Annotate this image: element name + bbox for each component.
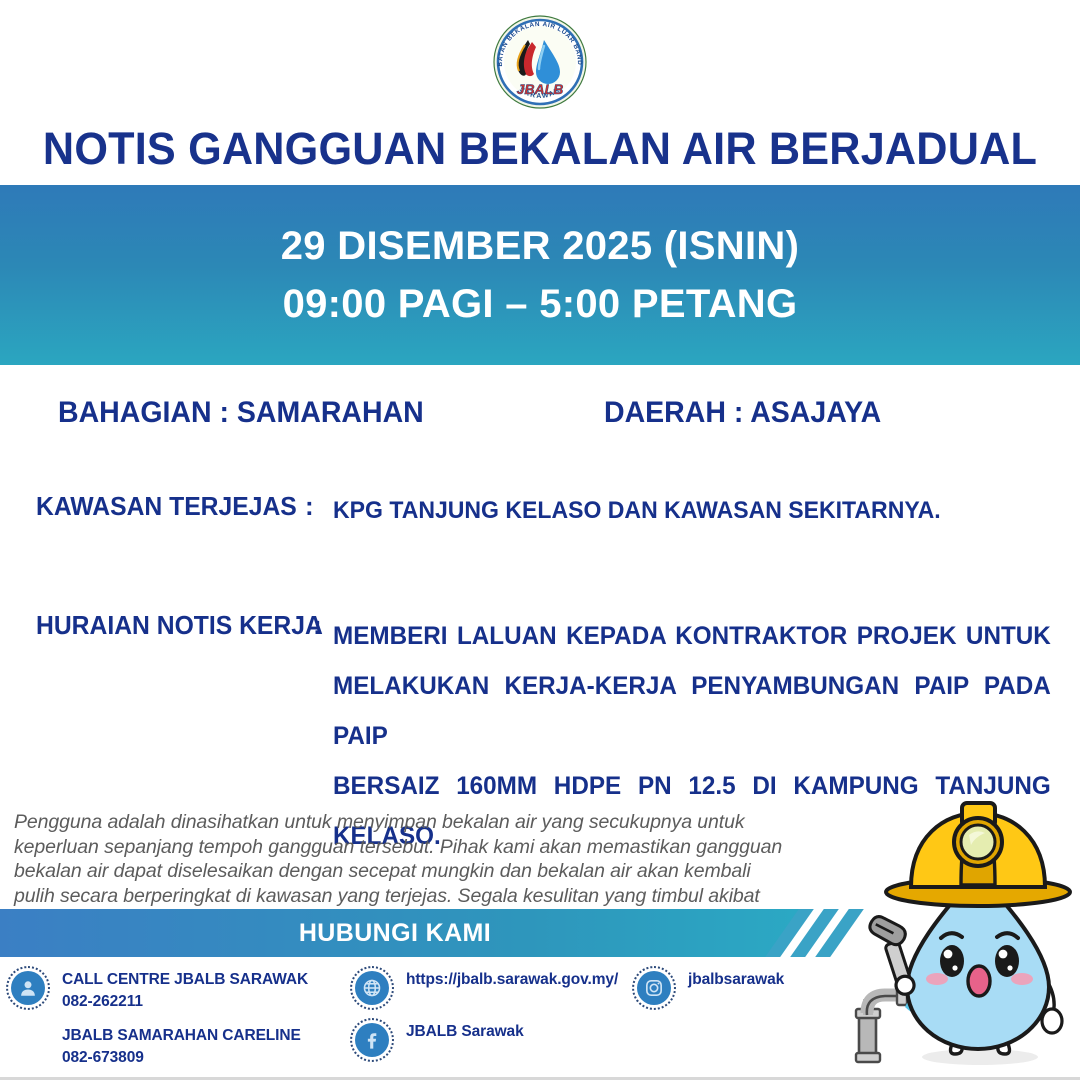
contact-careline: JBALB SAMARAHAN CARELINE 082-673809 [62, 1022, 301, 1069]
instagram-handle[interactable]: jbalbsarawak [688, 966, 784, 991]
district-label: DAERAH : ASAJAYA [604, 396, 881, 430]
date-time-banner: 29 DISEMBER 2025 (ISNIN) 09:00 PAGI – 5:… [0, 185, 1080, 365]
svg-text:JBALB: JBALB [517, 81, 564, 97]
notice-time: 09:00 PAGI – 5:00 PETANG [283, 275, 798, 333]
work-notice-label: HURAIAN NOTIS KERJA [36, 610, 323, 641]
careline-text: JBALB SAMARAHAN CARELINE 082-673809 [62, 1022, 301, 1069]
website-url[interactable]: https://jbalb.sarawak.gov.my/ [406, 966, 618, 991]
instagram-icon [632, 966, 676, 1010]
careline-phone[interactable]: 082-673809 [62, 1047, 301, 1069]
contact-facebook[interactable]: JBALB Sarawak [350, 1018, 524, 1062]
division-district-row: BAHAGIAN : SAMARAHAN DAERAH : ASAJAYA [0, 396, 1080, 436]
contact-call-centre: CALL CENTRE JBALB SARAWAK 082-262211 [6, 966, 308, 1013]
contact-banner: HUBUNGI KAMI [0, 909, 810, 957]
work-notice-line: MELAKUKAN KERJA-KERJA PENYAMBUNGAN PAIP … [333, 661, 1051, 761]
jbalb-logo-icon: JABATAN BEKALAN AIR LUAR BANDAR SARAWAK … [492, 14, 588, 110]
notice-poster: JABATAN BEKALAN AIR LUAR BANDAR SARAWAK … [0, 0, 1080, 1080]
affected-area-colon: : [305, 491, 314, 522]
affected-area-value: KPG TANJUNG KELASO DAN KAWASAN SEKITARNY… [333, 497, 941, 525]
contact-website[interactable]: https://jbalb.sarawak.gov.my/ [350, 966, 618, 1010]
notice-date: 29 DISEMBER 2025 (ISNIN) [281, 217, 799, 275]
call-centre-name: CALL CENTRE JBALB SARAWAK [62, 971, 308, 988]
facebook-icon [350, 1018, 394, 1062]
water-drop-mascot [845, 795, 1080, 1080]
globe-icon [350, 966, 394, 1010]
division-label: BAHAGIAN : SAMARAHAN [58, 396, 424, 430]
work-notice-colon: : [313, 610, 322, 641]
logo-container: JABATAN BEKALAN AIR LUAR BANDAR SARAWAK … [0, 10, 1080, 114]
call-centre-phone[interactable]: 082-262211 [62, 991, 308, 1013]
work-notice-line: MEMBERI LALUAN KEPADA KONTRAKTOR PROJEK … [333, 611, 1051, 661]
page-title: NOTIS GANGGUAN BEKALAN AIR BERJADUAL [22, 123, 1059, 175]
facebook-handle[interactable]: JBALB Sarawak [406, 1018, 524, 1043]
person-icon [6, 966, 50, 1010]
affected-area-label: KAWASAN TERJEJAS [36, 491, 297, 522]
careline-name: JBALB SAMARAHAN CARELINE [62, 1027, 301, 1044]
contact-banner-label: HUBUNGI KAMI [0, 909, 790, 957]
contact-instagram[interactable]: jbalbsarawak [632, 966, 784, 1010]
call-centre-text: CALL CENTRE JBALB SARAWAK 082-262211 [62, 966, 308, 1013]
